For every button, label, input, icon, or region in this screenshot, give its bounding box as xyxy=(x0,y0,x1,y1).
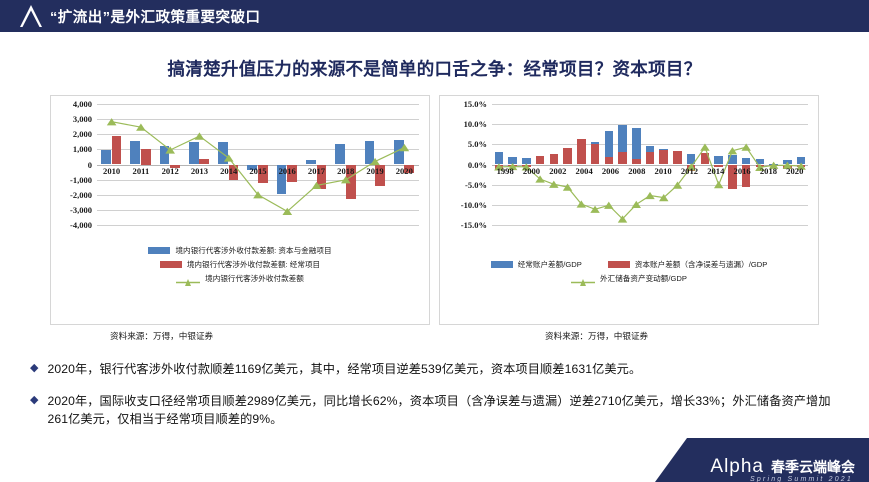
x-axis-tick: 2015 xyxy=(243,166,272,176)
y-axis-tick: 3,000 xyxy=(73,114,92,124)
legend-item: 资本账户差额（含净误差与遗漏）/GDP xyxy=(608,259,767,270)
gridline xyxy=(97,225,419,226)
chart-left-plot: 4,0003,0002,0001,0000-1,000-2,000-3,000-… xyxy=(97,104,419,225)
x-axis-tick: 2016 xyxy=(729,166,755,176)
chart-right-xaxis: 1998200020022004200620082010201220142016… xyxy=(492,166,808,176)
y-axis-tick: 10.0% xyxy=(464,119,487,129)
y-axis-tick: 0 xyxy=(88,160,92,170)
y-axis-tick: -10.0% xyxy=(461,200,487,210)
y-axis-tick: -4,000 xyxy=(70,220,92,230)
y-axis-tick: -3,000 xyxy=(70,205,92,215)
legend-color-swatch xyxy=(160,261,182,268)
bullet-diamond-icon: ◆ xyxy=(30,360,38,377)
x-axis-tick: 1998 xyxy=(492,166,518,176)
chart-panel-right: 15.0%10.0%5.0%0.0%-5.0%-10.0%-15.0% 1998… xyxy=(439,95,819,325)
legend-label: 境内银行代客涉外收付款差额: 资本与金融项目 xyxy=(175,245,331,256)
y-axis-tick: 15.0% xyxy=(464,99,487,109)
x-axis-tick: 2017 xyxy=(302,166,331,176)
footer-event-name: 春季云端峰会 xyxy=(771,457,855,477)
bullet-text: 2020年，国际收支口径经常项目顺差2989亿美元，同比增长62%，资本项目（含… xyxy=(47,392,850,428)
legend-label: 境内银行代客涉外收付款差额: 经常项目 xyxy=(187,259,320,270)
list-item: ◆ 2020年，国际收支口径经常项目顺差2989亿美元，同比增长62%，资本项目… xyxy=(30,392,850,428)
chart-left-legend: 境内银行代客涉外收付款差额: 资本与金融项目境内银行代客涉外收付款差额: 经常项… xyxy=(51,245,429,284)
y-axis-tick: 5.0% xyxy=(468,139,487,149)
x-axis-tick: 2020 xyxy=(390,166,419,176)
x-axis-tick: 2019 xyxy=(360,166,389,176)
x-axis-tick: 2011 xyxy=(126,166,155,176)
x-axis-tick: 2018 xyxy=(331,166,360,176)
x-axis-tick: 2014 xyxy=(214,166,243,176)
x-axis-tick: 2006 xyxy=(597,166,623,176)
legend-label: 资本账户差额（含净误差与遗漏）/GDP xyxy=(635,259,767,270)
header-title: “扩流出”是外汇政策重要突破口 xyxy=(50,6,261,27)
footer-event-subtitle: Spring Summit 2021 xyxy=(750,476,853,482)
x-axis-tick: 2004 xyxy=(571,166,597,176)
chart-line-overlay xyxy=(97,104,419,225)
x-axis-tick: 2020 xyxy=(782,166,808,176)
bullet-list: ◆ 2020年，银行代客涉外收付款顺差1169亿美元，其中，经常项目逆差539亿… xyxy=(30,360,850,442)
x-axis-tick: 2016 xyxy=(273,166,302,176)
legend-line-swatch xyxy=(176,274,200,283)
y-axis-tick: 4,000 xyxy=(73,99,92,109)
page-title: 搞清楚升值压力的来源不是简单的口舌之争：经常项目？资本项目？ xyxy=(0,56,869,81)
y-axis-tick: 2,000 xyxy=(73,129,92,139)
y-axis-tick: -15.0% xyxy=(461,220,487,230)
chart-line-overlay xyxy=(492,104,808,225)
x-axis-tick: 2002 xyxy=(545,166,571,176)
legend-color-swatch xyxy=(491,261,513,268)
x-axis-tick: 2000 xyxy=(518,166,544,176)
x-axis-tick: 2012 xyxy=(676,166,702,176)
chart-right: 15.0%10.0%5.0%0.0%-5.0%-10.0%-15.0% 1998… xyxy=(440,96,818,251)
x-axis-tick: 2014 xyxy=(703,166,729,176)
legend-label: 经常账户差额/GDP xyxy=(518,259,582,270)
legend-item: 经常账户差额/GDP xyxy=(491,259,582,270)
chart-panel-left: 4,0003,0002,0001,0000-1,000-2,000-3,000-… xyxy=(50,95,430,325)
y-axis-tick: -5.0% xyxy=(465,180,487,190)
x-axis-tick: 2013 xyxy=(185,166,214,176)
slide-footer: Alpha 春季云端峰会 Spring Summit 2021 xyxy=(609,438,869,482)
chart-left: 4,0003,0002,0001,0000-1,000-2,000-3,000-… xyxy=(51,96,429,251)
legend-label: 境内银行代客涉外收付款差额 xyxy=(205,273,304,284)
bullet-text: 2020年，银行代客涉外收付款顺差1169亿美元，其中，经常项目逆差539亿美元… xyxy=(47,360,641,378)
x-axis-tick: 2018 xyxy=(755,166,781,176)
alpha-mark-icon xyxy=(14,0,48,32)
x-axis-tick: 2010 xyxy=(650,166,676,176)
legend-color-swatch xyxy=(148,247,170,254)
legend-item: 境内银行代客涉外收付款差额 xyxy=(176,273,304,284)
y-axis-tick: -2,000 xyxy=(70,190,92,200)
bullet-diamond-icon: ◆ xyxy=(30,392,38,409)
chart-right-legend: 经常账户差额/GDP资本账户差额（含净误差与遗漏）/GDP外汇储备资产变动额/G… xyxy=(440,259,818,284)
legend-color-swatch xyxy=(608,261,630,268)
chart-right-source: 资料来源：万得，中银证券 xyxy=(545,330,648,342)
x-axis-tick: 2012 xyxy=(156,166,185,176)
x-axis-tick: 2010 xyxy=(97,166,126,176)
footer-alpha-logo: Alpha xyxy=(710,457,764,477)
chart-left-source: 资料来源：万得，中银证券 xyxy=(110,330,213,342)
slide-header: “扩流出”是外汇政策重要突破口 xyxy=(0,0,869,32)
y-axis-tick: -1,000 xyxy=(70,175,92,185)
legend-item: 境内银行代客涉外收付款差额: 经常项目 xyxy=(160,259,320,270)
chart-right-plot: 15.0%10.0%5.0%0.0%-5.0%-10.0%-15.0% xyxy=(492,104,808,225)
legend-line-swatch xyxy=(571,274,595,283)
list-item: ◆ 2020年，银行代客涉外收付款顺差1169亿美元，其中，经常项目逆差539亿… xyxy=(30,360,850,378)
gridline xyxy=(492,225,808,226)
y-axis-tick: 0.0% xyxy=(468,160,487,170)
chart-left-xaxis: 2010201120122013201420152016201720182019… xyxy=(97,166,419,176)
legend-label: 外汇储备资产变动额/GDP xyxy=(600,273,687,284)
x-axis-tick: 2008 xyxy=(624,166,650,176)
y-axis-tick: 1,000 xyxy=(73,144,92,154)
legend-item: 境内银行代客涉外收付款差额: 资本与金融项目 xyxy=(148,245,331,256)
legend-item: 外汇储备资产变动额/GDP xyxy=(571,273,687,284)
